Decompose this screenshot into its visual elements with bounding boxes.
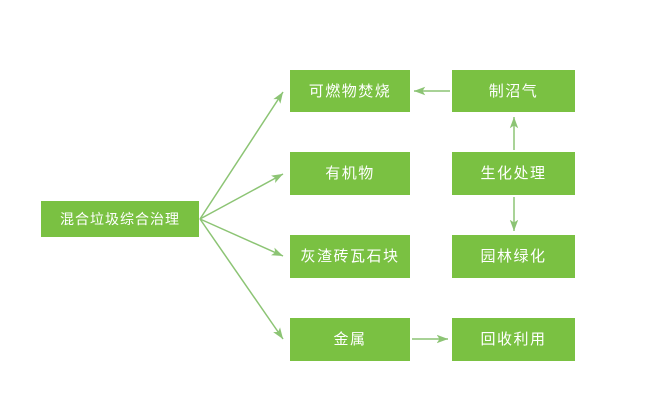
- node-label: 回收利用: [480, 332, 546, 347]
- node-organic-matter[interactable]: 有机物: [290, 152, 410, 195]
- node-landscaping[interactable]: 园林绿化: [452, 235, 575, 278]
- node-label: 有机物: [325, 166, 375, 181]
- node-label: 金属: [333, 332, 366, 347]
- node-recycling-reuse[interactable]: 回收利用: [452, 318, 575, 361]
- diagram-canvas: 混合垃圾综合治理 可燃物焚烧 有机物 灰渣砖瓦石块 金属 制沼气 生化处理 园林…: [0, 0, 648, 416]
- node-metal[interactable]: 金属: [290, 318, 410, 361]
- node-label: 生化处理: [480, 166, 546, 181]
- node-ash-bricks-tiles-stones[interactable]: 灰渣砖瓦石块: [290, 235, 410, 278]
- edge-root-to-organic: [200, 174, 283, 219]
- node-label: 制沼气: [489, 84, 539, 99]
- edge-root-to-ash: [200, 219, 283, 256]
- node-mixed-waste-treatment[interactable]: 混合垃圾综合治理: [41, 201, 199, 237]
- node-label: 可燃物焚烧: [309, 84, 392, 99]
- edge-root-to-burn: [200, 92, 283, 219]
- node-biochemical-treatment[interactable]: 生化处理: [452, 152, 575, 195]
- node-label: 园林绿化: [480, 249, 546, 264]
- edge-root-to-metal: [200, 219, 283, 339]
- node-label: 灰渣砖瓦石块: [300, 249, 399, 264]
- node-label: 混合垃圾综合治理: [60, 212, 180, 226]
- node-biogas-production[interactable]: 制沼气: [452, 70, 575, 112]
- node-combustible-incineration[interactable]: 可燃物焚烧: [290, 70, 410, 112]
